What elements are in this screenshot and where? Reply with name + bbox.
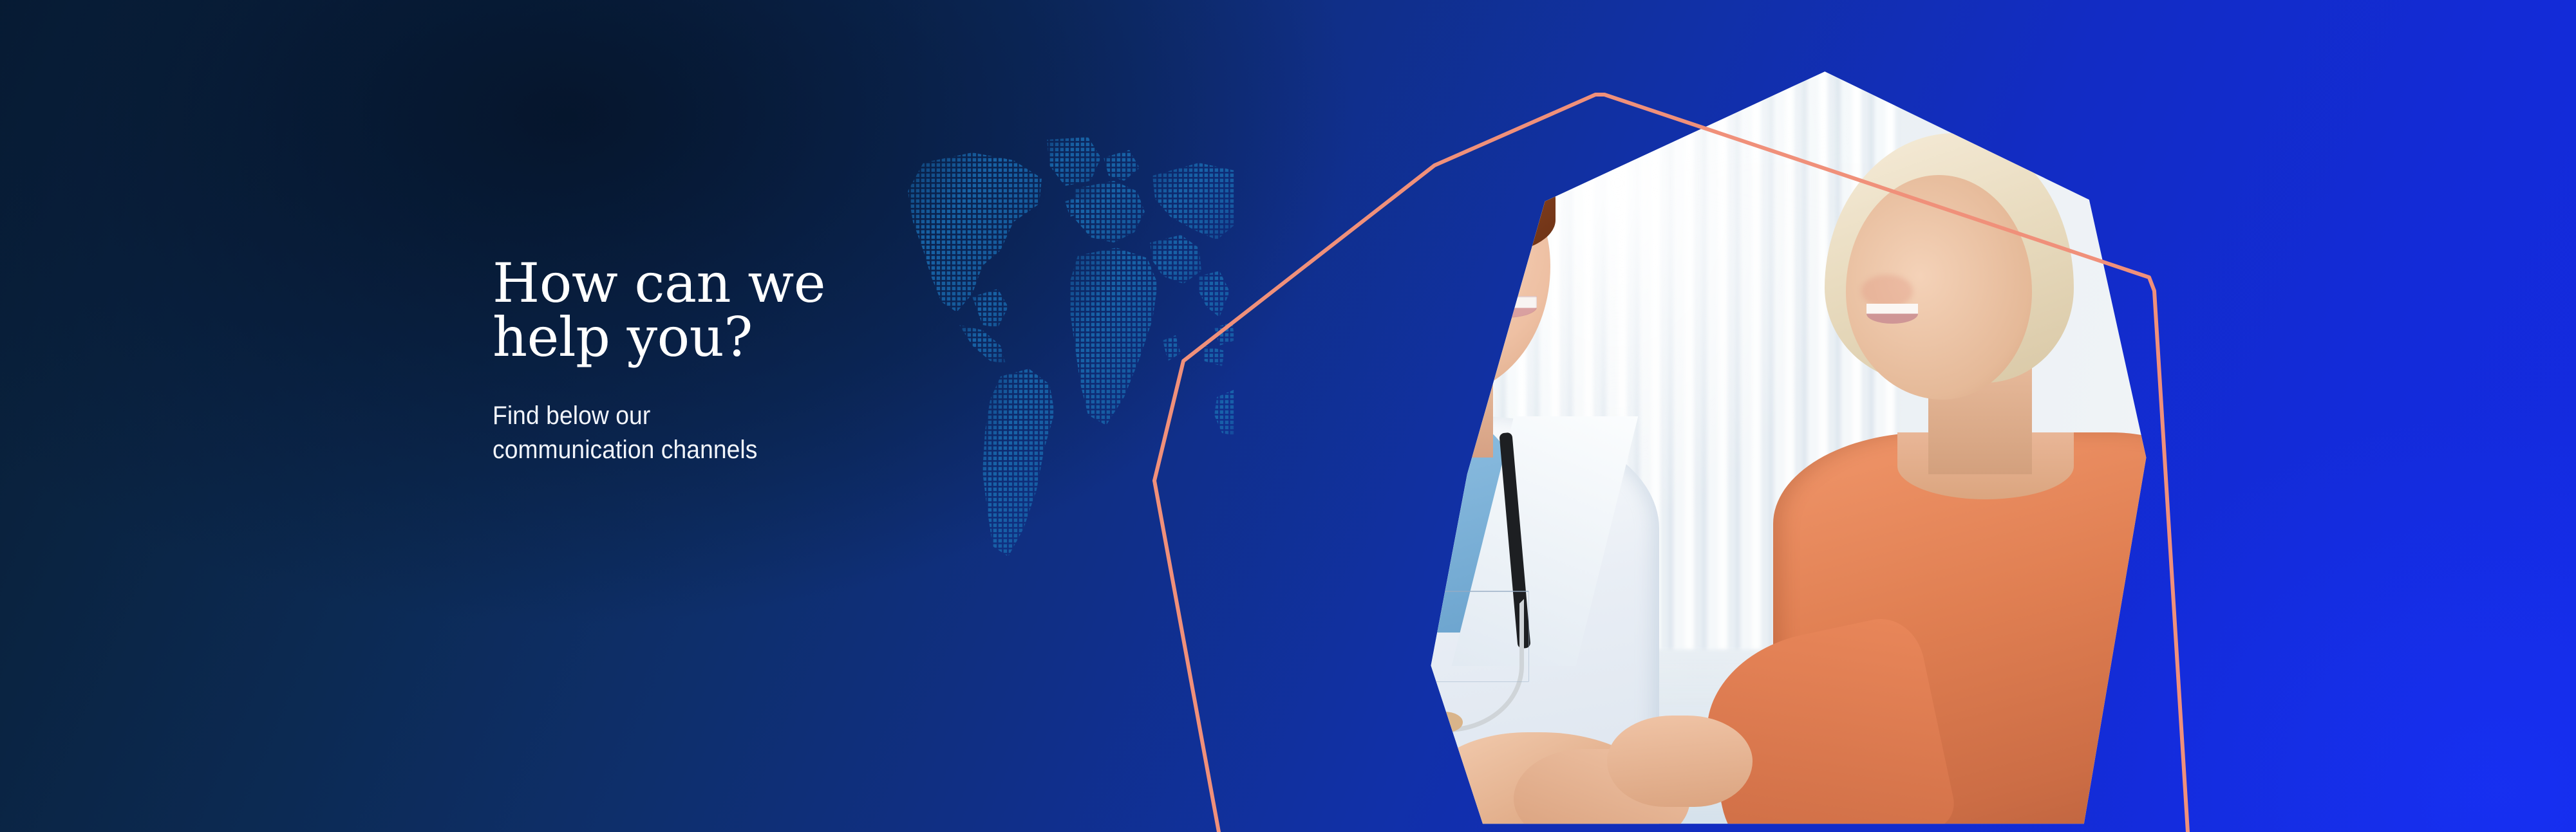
page-subtitle: Find below our communication channels (493, 399, 984, 467)
patient-smile (1866, 304, 1919, 324)
contact-hero-banner: How can we help you? Find below our comm… (0, 0, 2576, 832)
patient-cheek (1861, 275, 1913, 308)
hero-copy-block: How can we help you? Find below our comm… (493, 256, 1020, 467)
page-title: How can we help you? (493, 256, 1020, 364)
patient-hand (1607, 716, 1752, 807)
background-blue-glow (0, 0, 2576, 832)
